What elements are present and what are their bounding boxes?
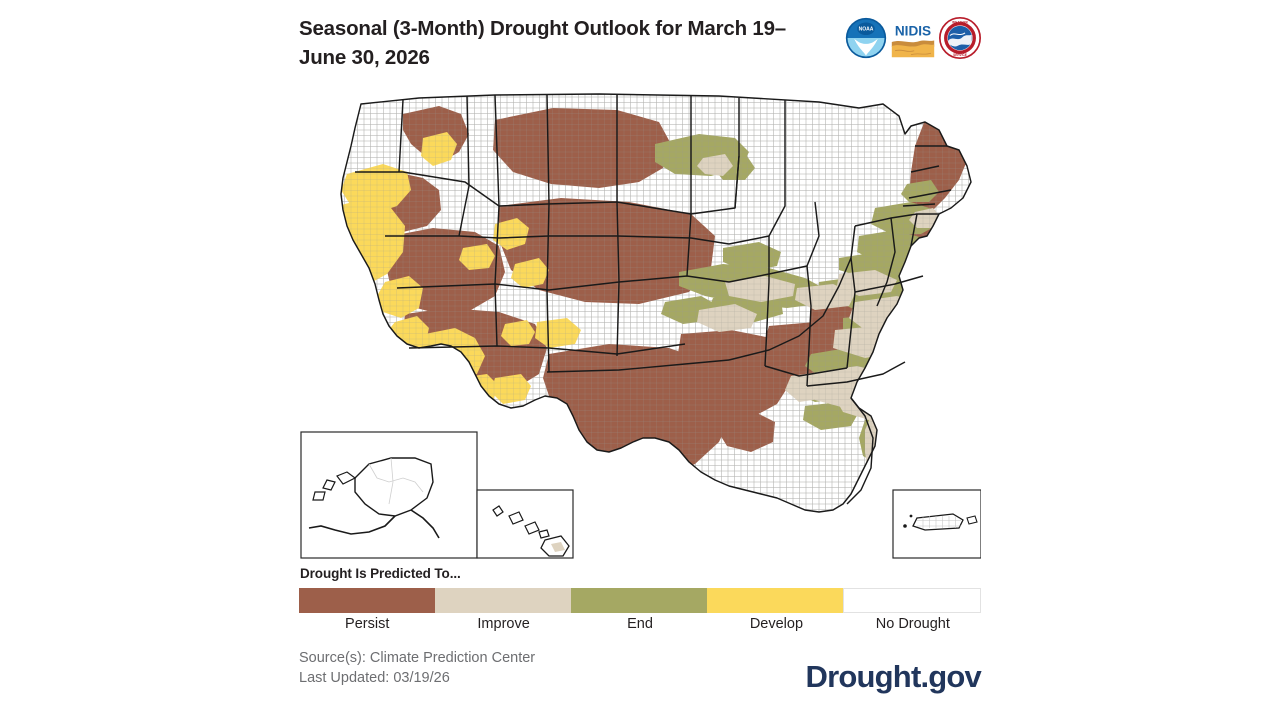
page-title: Seasonal (3-Month) Drought Outlook for M… — [299, 14, 799, 72]
legend-swatch-develop — [707, 588, 843, 613]
updated-line: Last Updated: 03/19/26 — [299, 668, 535, 688]
logo-group: NOAA NIDIS WEA — [845, 17, 981, 59]
footer: Source(s): Climate Prediction Center Las… — [299, 648, 981, 704]
svg-text:NOAA: NOAA — [859, 26, 874, 32]
legend-swatch-end — [571, 588, 707, 613]
source-line: Source(s): Climate Prediction Center — [299, 648, 535, 668]
legend-labels: Persist Improve End Develop No Drought — [299, 616, 981, 632]
legend-label-end: End — [572, 616, 708, 632]
legend-label-persist: Persist — [299, 616, 435, 632]
legend-title: Drought Is Predicted To... — [300, 566, 981, 581]
puerto-rico-inset — [893, 490, 981, 558]
hawaii-inset — [477, 490, 573, 558]
legend-swatch-no-drought — [843, 588, 981, 613]
header: Seasonal (3-Month) Drought Outlook for M… — [299, 14, 981, 76]
legend-label-no-drought: No Drought — [845, 616, 981, 632]
alaska-inset — [301, 432, 477, 558]
legend: Drought Is Predicted To... Persist Impro… — [299, 566, 981, 632]
svg-text:NIDIS: NIDIS — [895, 24, 931, 39]
svg-text:WEATHER: WEATHER — [952, 21, 968, 25]
svg-text:SERVICE: SERVICE — [953, 53, 967, 57]
legend-bar — [299, 588, 981, 613]
legend-swatch-improve — [435, 588, 571, 613]
legend-label-develop: Develop — [708, 616, 844, 632]
legend-swatch-persist — [299, 588, 435, 613]
drought-gov-brand: Drought.gov — [806, 659, 981, 695]
legend-label-improve: Improve — [435, 616, 571, 632]
seasonal-drought-outlook-map — [299, 86, 981, 560]
source-block: Source(s): Climate Prediction Center Las… — [299, 648, 535, 688]
nidis-logo: NIDIS — [891, 17, 935, 59]
nws-logo: WEATHER SERVICE — [939, 17, 981, 59]
noaa-logo: NOAA — [845, 17, 887, 59]
drought-outlook-graphic: Seasonal (3-Month) Drought Outlook for M… — [0, 0, 1280, 720]
